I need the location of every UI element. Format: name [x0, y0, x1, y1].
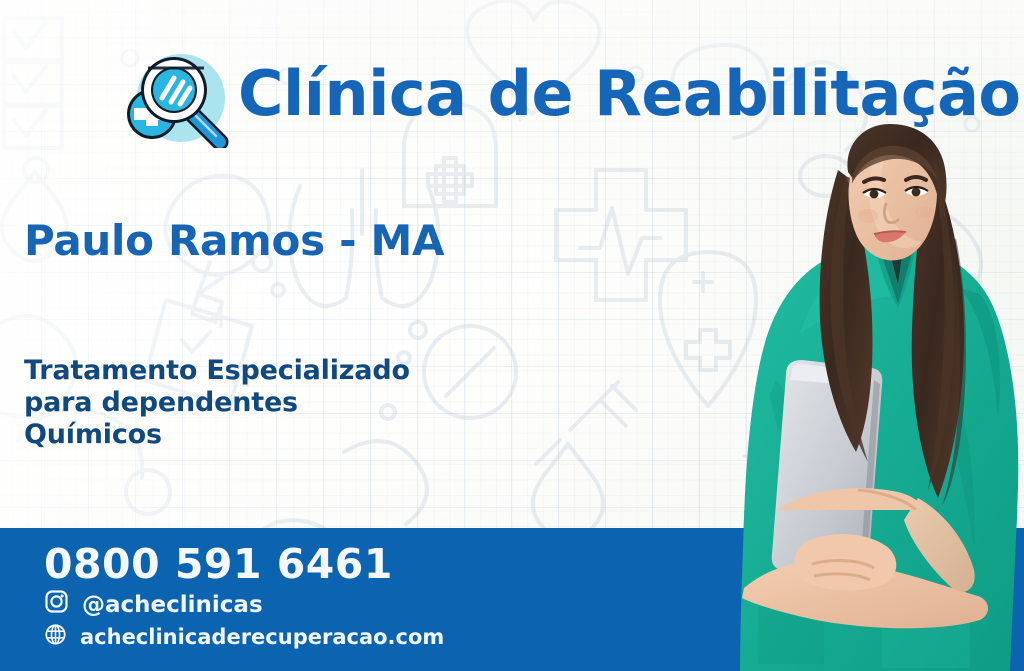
- instagram-icon: [44, 589, 69, 620]
- doctor-name: Paulo Ramos - MA: [24, 216, 444, 265]
- pitch-line-1: Tratamento Especializado: [24, 355, 410, 387]
- website-url: acheclinicaderecuperacao.com: [80, 625, 444, 649]
- service-pitch: Tratamento Especializado para dependente…: [24, 355, 410, 451]
- instagram-handle: @acheclinicas: [82, 592, 263, 618]
- instagram-contact-row[interactable]: @acheclinicas: [44, 589, 263, 620]
- pitch-line-3: Químicos: [24, 419, 410, 451]
- magnifier-plus-logo-icon: [126, 52, 230, 148]
- phone-number[interactable]: 0800 591 6461: [44, 540, 393, 588]
- globe-icon: [44, 623, 67, 651]
- business-card: Clínica de Reabilitação: [0, 0, 1024, 671]
- website-contact-row[interactable]: acheclinicaderecuperacao.com: [44, 623, 444, 651]
- pitch-line-2: para dependentes: [24, 387, 410, 419]
